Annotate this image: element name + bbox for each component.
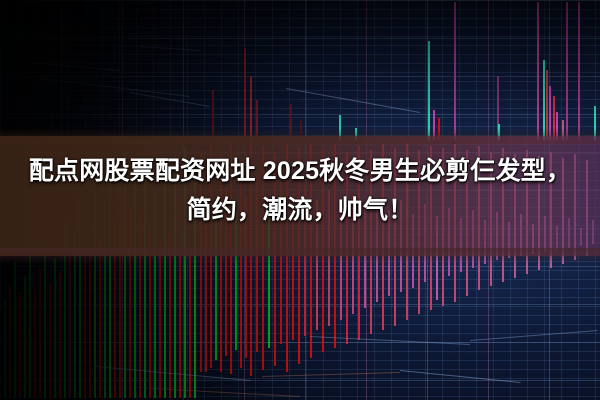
headline-text: 配点网股票配资网址 2025秋冬男生必剪仨发型， 简约，潮流，帅气！ (0, 152, 600, 230)
trend-line (400, 370, 520, 383)
trend-line (140, 46, 200, 51)
headline-line-2: 简约，潮流，帅气！ (0, 191, 600, 230)
trend-line (470, 330, 598, 341)
headline-band-fade-bottom (0, 248, 600, 264)
headline-line-1: 配点网股票配资网址 2025秋冬男生必剪仨发型， (29, 157, 571, 185)
trend-line (40, 78, 190, 97)
trend-line (310, 336, 470, 345)
banner-image: 配点网股票配资网址 2025秋冬男生必剪仨发型， 简约，潮流，帅气！ (0, 0, 600, 400)
trend-line (30, 62, 120, 71)
trend-line (96, 366, 250, 381)
trend-line (286, 88, 420, 113)
trend-line (150, 388, 300, 397)
trend-line (262, 372, 400, 377)
